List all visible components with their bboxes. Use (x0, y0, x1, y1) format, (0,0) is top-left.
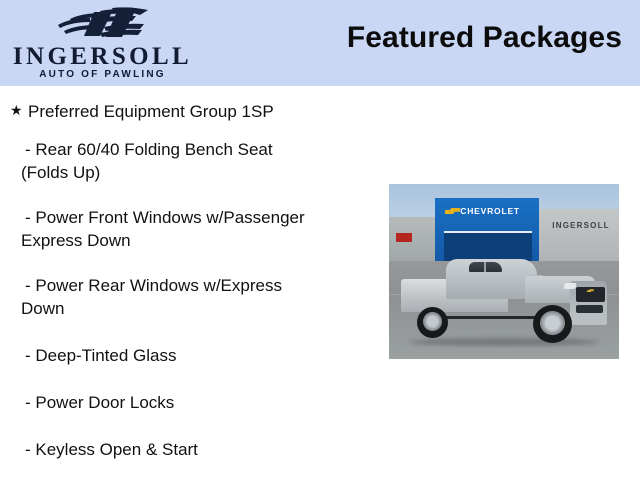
page-title: Featured Packages (347, 21, 622, 55)
truck-windows (469, 262, 503, 272)
spec-line-primary: - Power Rear Windows w/Express (25, 276, 282, 295)
list-item: - Keyless Open & Start (25, 438, 355, 461)
truck-bumper (566, 314, 607, 325)
truck-front-wheel (533, 305, 572, 343)
vehicle-photo: CHEVROLET INGERSOLL (388, 183, 620, 360)
spec-line-primary: - Power Front Windows w/Passenger (25, 208, 305, 227)
spec-line-continued: Express Down (21, 229, 355, 252)
truck-rear-rim (423, 312, 442, 331)
spec-line-continued: (Folds Up) (21, 161, 355, 184)
dealer-logo-block: INGERSOLL AUTO OF PAWLING (0, 2, 205, 86)
list-item: - Deep-Tinted Glass (25, 344, 355, 367)
equipment-group-heading: ★Preferred Equipment Group 1SP (10, 99, 274, 123)
star-bullet-icon: ★ (10, 99, 28, 121)
photo-showroom-entry (444, 231, 531, 263)
photo-ingersoll-sign-text: INGERSOLL (552, 221, 609, 230)
photo-red-awning (396, 233, 412, 242)
truck-grille-upper (576, 287, 605, 302)
truck-cab (446, 259, 537, 299)
truck-rear-wheel (417, 307, 448, 338)
photo-truck (401, 259, 608, 350)
spec-line-primary: - Rear 60/40 Folding Bench Seat (25, 140, 273, 159)
header-band: INGERSOLL AUTO OF PAWLING Featured Packa… (0, 0, 640, 86)
list-item: - Power Rear Windows w/Express Down (25, 274, 355, 320)
ingersoll-winged-emblem-icon (56, 6, 154, 40)
list-item: - Power Front Windows w/Passenger Expres… (25, 206, 355, 252)
truck-shadow (409, 338, 599, 346)
slide-page: INGERSOLL AUTO OF PAWLING Featured Packa… (0, 0, 640, 480)
equipment-group-label: Preferred Equipment Group 1SP (28, 102, 274, 121)
dealer-name: INGERSOLL (0, 44, 205, 70)
spec-line-primary: - Power Door Locks (25, 393, 174, 412)
truck-running-board (442, 316, 541, 320)
spec-line-primary: - Keyless Open & Start (25, 440, 198, 459)
spec-line-continued: Down (21, 297, 355, 320)
truck-front-rim (540, 311, 565, 335)
truck-grille-lower (576, 305, 603, 313)
spec-line-primary: - Deep-Tinted Glass (25, 346, 176, 365)
dealer-tagline: AUTO OF PAWLING (0, 69, 205, 81)
specs-column: ★Preferred Equipment Group 1SP - Rear 60… (0, 86, 370, 480)
photo-chevrolet-sign-text: CHEVROLET (460, 206, 520, 216)
list-item: - Power Door Locks (25, 391, 355, 414)
list-item: - Rear 60/40 Folding Bench Seat (Folds U… (25, 138, 355, 184)
